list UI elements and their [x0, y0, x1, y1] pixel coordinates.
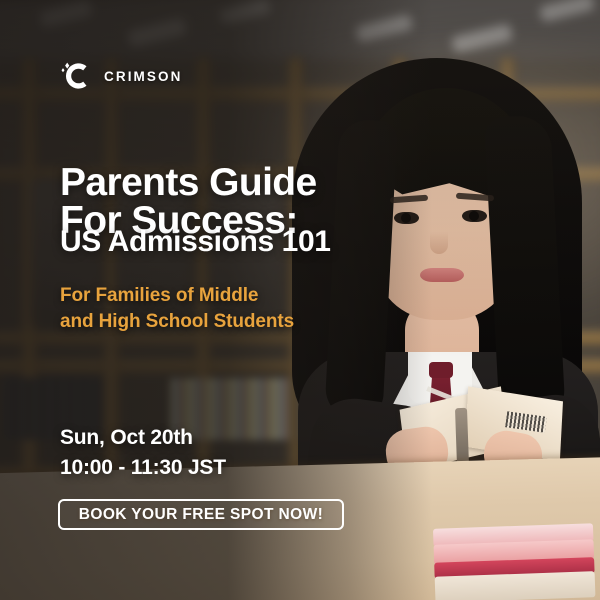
audience-line-1: For Families of Middle: [60, 283, 294, 309]
event-time: 10:00 - 11:30 JST: [60, 453, 226, 483]
poster-content: CRIMSON Parents Guide For Success: US Ad…: [0, 0, 600, 600]
crimson-c-logo-icon: [56, 56, 96, 96]
event-datetime: Sun, Oct 20th 10:00 - 11:30 JST: [60, 423, 226, 484]
book-spot-button[interactable]: BOOK YOUR FREE SPOT NOW!: [58, 499, 344, 530]
brand-logo: CRIMSON: [56, 56, 182, 96]
headline-line-1: Parents Guide: [60, 161, 317, 204]
subheadline: US Admissions 101: [60, 225, 331, 259]
promotional-poster: CRIMSON Parents Guide For Success: US Ad…: [0, 0, 600, 600]
audience-line-2: and High School Students: [60, 309, 294, 335]
audience-text: For Families of Middle and High School S…: [60, 283, 294, 334]
event-date: Sun, Oct 20th: [60, 423, 226, 453]
brand-wordmark: CRIMSON: [104, 69, 182, 84]
